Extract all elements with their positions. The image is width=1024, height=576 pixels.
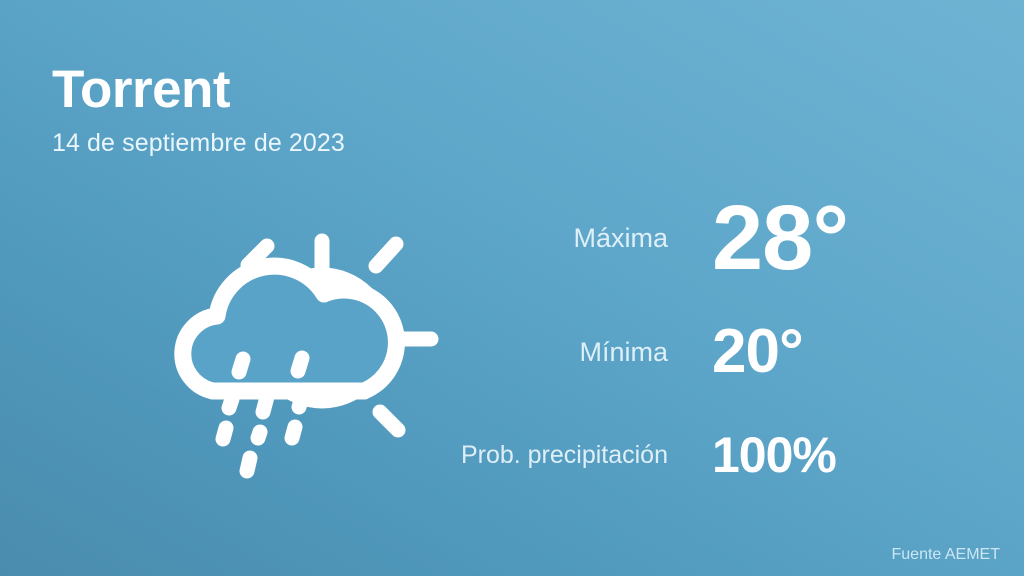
sun-ray-upper-right-icon — [376, 244, 396, 266]
reading-row-maxima: Máxima 28° — [430, 184, 970, 292]
weather-card: Torrent 14 de septiembre de 2023 — [0, 0, 1024, 576]
source-attribution: Fuente AEMET — [892, 546, 1001, 564]
card-header: Torrent 14 de septiembre de 2023 — [52, 62, 612, 158]
city-name: Torrent — [52, 62, 612, 118]
reading-row-precipitacion: Prob. precipitación 100% — [430, 412, 970, 498]
reading-value-precipitacion: 100% — [712, 430, 970, 480]
reading-row-minima: Mínima 20° — [430, 292, 970, 412]
weather-icon — [150, 186, 450, 486]
forecast-date: 14 de septiembre de 2023 — [52, 129, 612, 158]
reading-value-maxima: 28° — [712, 192, 970, 284]
reading-label-minima: Mínima — [430, 337, 712, 368]
readings-list: Máxima 28° Mínima 20° Prob. precipitació… — [430, 184, 970, 498]
reading-label-maxima: Máxima — [430, 223, 712, 254]
sun-ray-lower-right-icon — [380, 412, 398, 430]
reading-label-precipitacion: Prob. precipitación — [430, 441, 712, 470]
sun-behind-rain-cloud-icon — [150, 186, 450, 486]
reading-value-minima: 20° — [712, 321, 970, 383]
